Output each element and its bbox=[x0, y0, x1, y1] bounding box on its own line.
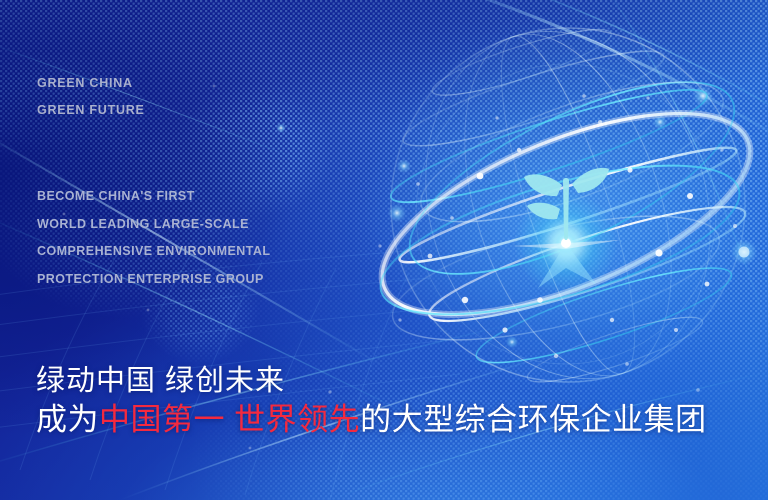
headline-line-1: 绿动中国 绿创未来 bbox=[36, 362, 707, 400]
claims-line-3: COMPREHENSIVE ENVIRONMENTAL bbox=[37, 238, 270, 266]
headline-prefix: 成为 bbox=[36, 402, 99, 437]
tagline-block: GREEN CHINA GREEN FUTURE bbox=[37, 70, 145, 124]
claims-line-2: WORLD LEADING LARGE-SCALE bbox=[37, 211, 270, 239]
sprout-icon bbox=[524, 168, 609, 240]
headline-highlight: 中国第一 世界领先 bbox=[99, 402, 360, 437]
headline-suffix: 的大型综合环保企业集团 bbox=[360, 402, 707, 437]
claims-line-1: BECOME CHINA'S FIRST bbox=[37, 183, 270, 211]
claims-block: BECOME CHINA'S FIRST WORLD LEADING LARGE… bbox=[37, 183, 270, 293]
tagline-line-2: GREEN FUTURE bbox=[37, 97, 145, 124]
headline-line-2: 成为中国第一 世界领先的大型综合环保企业集团 bbox=[36, 400, 707, 440]
tagline-line-1: GREEN CHINA bbox=[37, 70, 145, 97]
headline-block: 绿动中国 绿创未来 成为中国第一 世界领先的大型综合环保企业集团 bbox=[36, 362, 707, 440]
core-light-burst bbox=[512, 191, 620, 295]
claims-line-4: PROTECTION ENTERPRISE GROUP bbox=[37, 266, 270, 294]
hero-banner: GREEN CHINA GREEN FUTURE BECOME CHINA'S … bbox=[0, 0, 768, 500]
